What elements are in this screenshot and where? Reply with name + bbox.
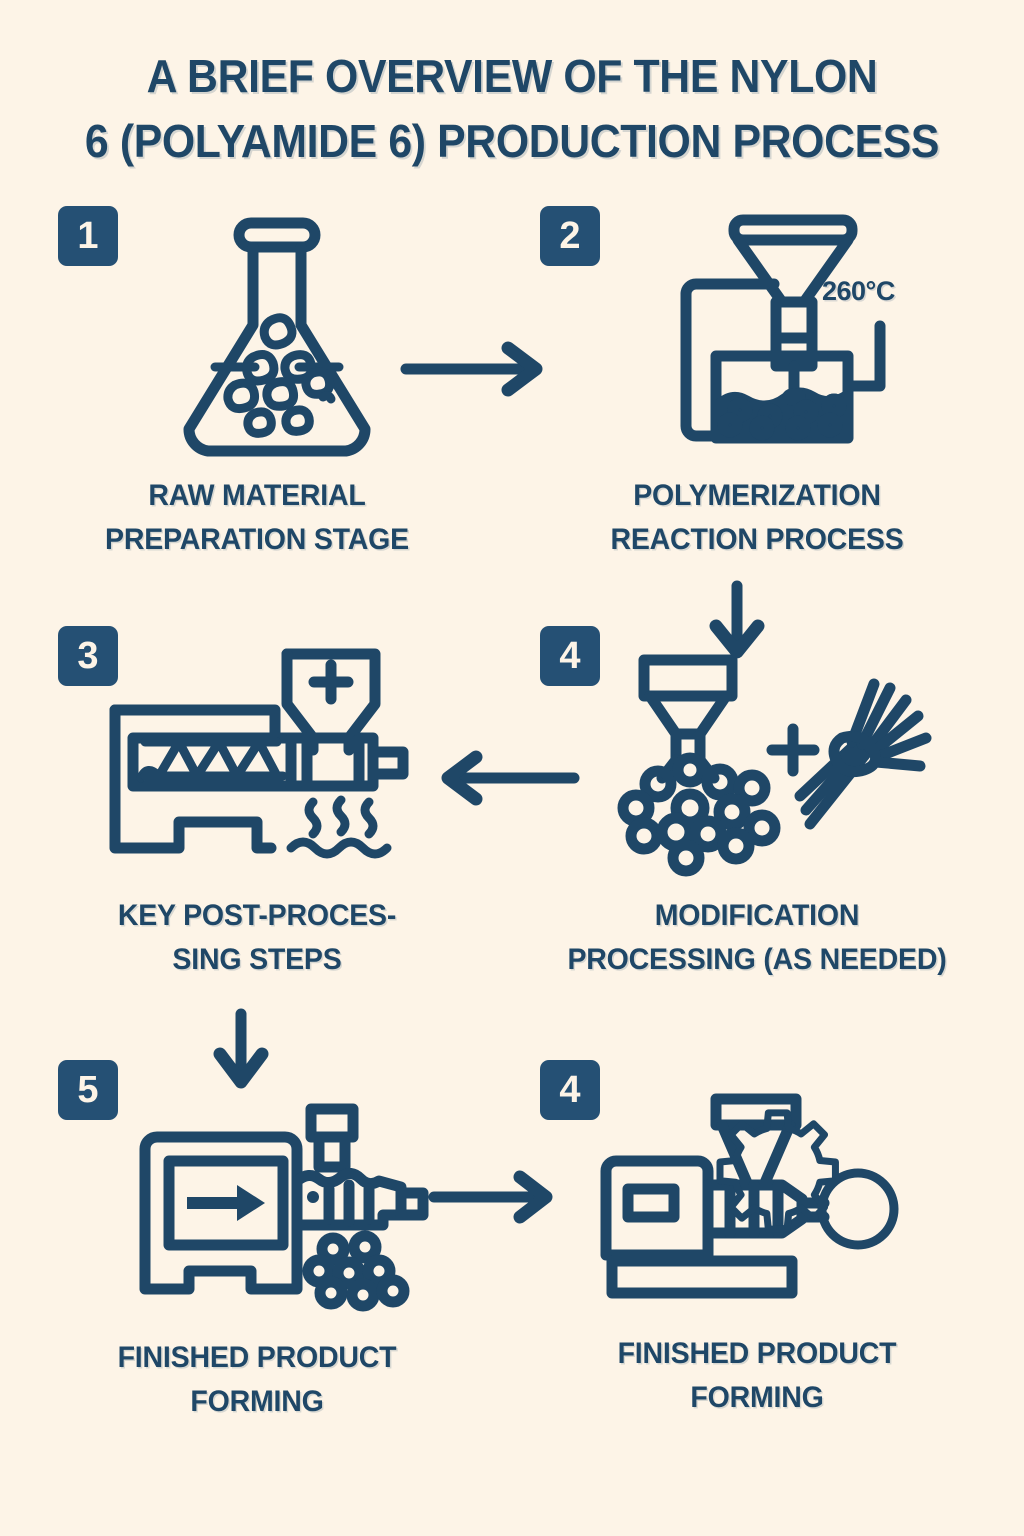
arrow-step5-to-step6 — [428, 1168, 558, 1226]
arrow-step2-to-step4 — [706, 580, 768, 662]
arrow-step1-to-step2 — [400, 338, 548, 400]
title-line-2: 6 (POLYAMIDE 6) PRODUCTION PROCESS — [36, 109, 988, 174]
step-caption-5: FINISHED PRODUCT FORMING — [34, 1336, 481, 1425]
extruder-screw-machine-icon — [86, 632, 426, 882]
step-badge-1: 1 — [58, 206, 118, 266]
step-caption-3: KEY POST-PROCES- SING STEPS — [34, 894, 481, 983]
step-badge-2: 2 — [540, 206, 600, 266]
erlenmeyer-flask-with-pellets-icon — [112, 212, 442, 462]
step-badge-4: 4 — [540, 626, 600, 686]
page-title: A BRIEF OVERVIEW OF THE NYLON 6 (POLYAMI… — [36, 44, 988, 175]
caption-line-1: KEY POST-PROCES- — [34, 894, 481, 938]
caption-line-1: FINISHED PRODUCT — [534, 1332, 981, 1376]
arrow-step4-to-step3 — [440, 748, 580, 808]
caption-line-2: FORMING — [534, 1376, 981, 1420]
step-caption-2: POLYMERIZATION REACTION PROCESS — [534, 474, 981, 563]
temperature-annotation: 260°C — [822, 276, 895, 307]
caption-line-1: RAW MATERIAL — [34, 474, 481, 518]
reactor-vessel-with-funnel-icon — [618, 212, 948, 462]
caption-line-2: PREPARATION STAGE — [34, 518, 481, 562]
hopper-pellets-and-fiber-bundle-icon — [608, 632, 948, 882]
pelletizer-machine-icon — [118, 1078, 448, 1328]
caption-line-2: SING STEPS — [34, 938, 481, 982]
caption-line-2: PROCESSING (AS NEEDED) — [534, 938, 981, 982]
injection-molding-machine-with-gear-icon — [586, 1074, 936, 1324]
step-caption-6: FINISHED PRODUCT FORMING — [534, 1332, 981, 1421]
caption-line-2: REACTION PROCESS — [534, 518, 981, 562]
caption-line-1: MODIFICATION — [534, 894, 981, 938]
title-line-1: A BRIEF OVERVIEW OF THE NYLON — [36, 44, 988, 109]
caption-line-1: POLYMERIZATION — [534, 474, 981, 518]
step-badge-5: 5 — [58, 1060, 118, 1120]
caption-line-1: FINISHED PRODUCT — [34, 1336, 481, 1380]
step-caption-4: MODIFICATION PROCESSING (AS NEEDED) — [534, 894, 981, 983]
infographic-poster: A BRIEF OVERVIEW OF THE NYLON 6 (POLYAMI… — [0, 0, 1024, 1536]
arrow-step3-to-step5 — [210, 1008, 272, 1092]
step-caption-1: RAW MATERIAL PREPARATION STAGE — [34, 474, 481, 563]
caption-line-2: FORMING — [34, 1380, 481, 1424]
